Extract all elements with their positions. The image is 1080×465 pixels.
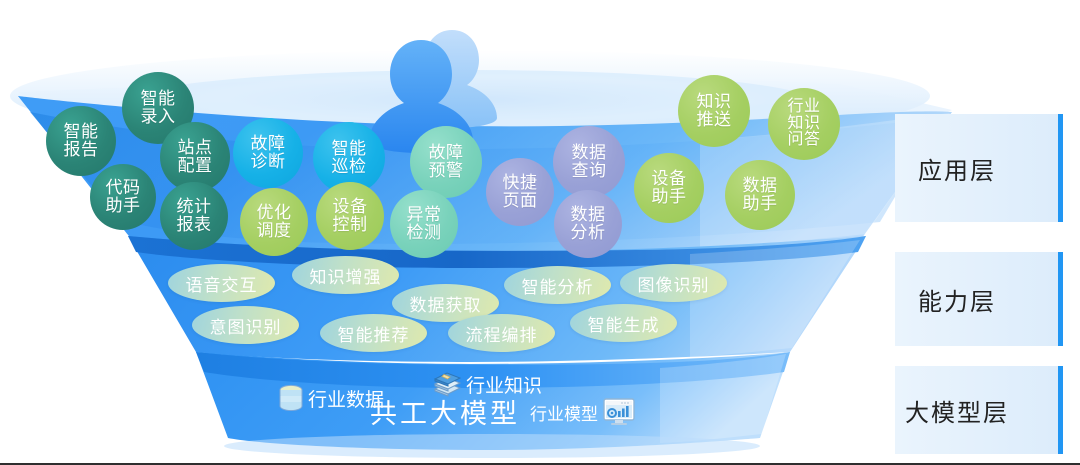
capability-pill-label: 智能分析 xyxy=(522,273,594,298)
capability-pill[interactable]: 知识增强 xyxy=(292,256,399,294)
capability-pill-label: 智能推荐 xyxy=(338,321,410,346)
app-bubble-line: 检测 xyxy=(407,224,442,242)
layer-accent-bar xyxy=(1058,114,1063,222)
app-bubble-line: 站点 xyxy=(178,139,213,157)
app-bubble-line: 知识 xyxy=(697,93,732,111)
app-bubble-line: 统计 xyxy=(177,198,212,216)
app-bubble-line: 智能 xyxy=(64,123,99,141)
capability-pill[interactable]: 图像识别 xyxy=(620,264,727,302)
app-bubble-label: 站点配置 xyxy=(178,139,213,175)
app-bubble-line: 问答 xyxy=(787,132,820,149)
layer-panel-model[interactable]: 大模型层 xyxy=(895,366,1063,454)
app-bubble-line: 报告 xyxy=(64,141,99,159)
app-bubble-line: 行业 xyxy=(787,99,820,116)
layer-label-model: 大模型层 xyxy=(905,393,1009,428)
capability-pill-label: 数据获取 xyxy=(410,291,482,316)
capability-pill[interactable]: 意图识别 xyxy=(192,306,299,344)
app-bubble-line: 报表 xyxy=(177,216,212,234)
app-bubble[interactable]: 异常检测 xyxy=(390,190,458,258)
app-bubble-line: 配置 xyxy=(178,157,213,175)
app-bubble[interactable]: 统计报表 xyxy=(160,182,228,250)
layer-panel-application[interactable]: 应用层 xyxy=(895,114,1063,222)
app-bubble[interactable]: 行业知识问答 xyxy=(768,88,840,160)
app-bubble-line: 优化 xyxy=(257,204,292,222)
app-bubble-line: 控制 xyxy=(333,216,368,234)
capability-pill-label: 语音交互 xyxy=(186,271,258,296)
monitor-icon xyxy=(602,397,636,427)
app-bubble-line: 查询 xyxy=(572,162,607,180)
app-bubble-line: 数据 xyxy=(572,144,607,162)
diagram-stage: 智能报告智能录入站点配置代码助手统计报表故障诊断智能巡检优化调度设备控制故障预警… xyxy=(0,0,1080,465)
layer-accent-bar xyxy=(1058,366,1063,454)
app-bubble-line: 故障 xyxy=(251,135,286,153)
app-bubble-line: 推送 xyxy=(697,111,732,129)
app-bubble-line: 知识 xyxy=(787,116,820,133)
app-bubble-label: 代码助手 xyxy=(106,179,141,215)
model-layer-title: 共工大模型 xyxy=(370,392,520,431)
app-bubble[interactable]: 故障预警 xyxy=(410,126,482,198)
app-bubble-label: 知识推送 xyxy=(697,93,732,129)
app-bubble[interactable]: 数据查询 xyxy=(553,126,625,198)
capability-pill[interactable]: 语音交互 xyxy=(168,264,275,302)
app-bubble-line: 快捷 xyxy=(503,174,538,192)
app-bubble-line: 异常 xyxy=(407,206,442,224)
layer-panel-capability[interactable]: 能力层 xyxy=(895,252,1063,346)
app-bubble-label: 故障诊断 xyxy=(251,135,286,171)
capability-pill[interactable]: 智能分析 xyxy=(504,266,611,304)
layer-label-application: 应用层 xyxy=(918,151,996,186)
model-layer-item-label: 行业模型 xyxy=(530,400,598,425)
app-bubble-line: 录入 xyxy=(141,108,176,126)
app-bubble[interactable]: 数据分析 xyxy=(554,190,622,258)
app-bubble[interactable]: 智能报告 xyxy=(46,106,116,176)
app-bubble-label: 统计报表 xyxy=(177,198,212,234)
app-bubble-label: 快捷页面 xyxy=(503,174,538,210)
app-bubble[interactable]: 故障诊断 xyxy=(233,118,303,188)
app-bubble-line: 代码 xyxy=(106,179,141,197)
app-bubble-label: 智能巡检 xyxy=(332,140,367,176)
layer-label-capability: 能力层 xyxy=(918,282,996,317)
app-bubble-line: 助手 xyxy=(652,188,687,206)
capability-pill-label: 流程编排 xyxy=(466,321,538,346)
app-bubble-label: 智能报告 xyxy=(64,123,99,159)
capability-pill-label: 知识增强 xyxy=(310,263,382,288)
capability-pill-label: 智能生成 xyxy=(588,311,660,336)
app-bubble-label: 设备控制 xyxy=(333,198,368,234)
capability-pill[interactable]: 流程编排 xyxy=(448,314,555,352)
app-bubble[interactable]: 优化调度 xyxy=(240,188,308,256)
layer-accent-bar xyxy=(1058,252,1063,346)
app-bubble-label: 数据分析 xyxy=(571,206,606,242)
app-bubble-line: 诊断 xyxy=(251,153,286,171)
app-bubble-label: 数据助手 xyxy=(743,177,778,213)
model-layer-item[interactable]: 行业模型 xyxy=(530,397,636,427)
app-bubble-line: 助手 xyxy=(743,195,778,213)
app-bubble-label: 智能录入 xyxy=(141,90,176,126)
app-bubble-label: 故障预警 xyxy=(429,144,464,180)
app-bubble-line: 故障 xyxy=(429,144,464,162)
app-bubble[interactable]: 设备控制 xyxy=(316,182,384,250)
capability-pill[interactable]: 智能推荐 xyxy=(320,314,427,352)
app-bubble-line: 设备 xyxy=(652,170,687,188)
app-bubble-line: 设备 xyxy=(333,198,368,216)
app-bubble-line: 预警 xyxy=(429,162,464,180)
app-bubble-label: 异常检测 xyxy=(407,206,442,242)
app-bubble-line: 调度 xyxy=(257,222,292,240)
app-bubble-line: 数据 xyxy=(571,206,606,224)
top-divider xyxy=(0,0,1080,1)
app-bubble-line: 数据 xyxy=(743,177,778,195)
app-bubble-line: 巡检 xyxy=(332,158,367,176)
capability-pill-label: 图像识别 xyxy=(638,271,710,296)
app-bubble[interactable]: 代码助手 xyxy=(90,164,156,230)
app-bubble-line: 分析 xyxy=(571,224,606,242)
app-bubble[interactable]: 知识推送 xyxy=(678,75,750,147)
capability-pill[interactable]: 智能生成 xyxy=(570,304,677,342)
app-bubble-label: 设备助手 xyxy=(652,170,687,206)
app-bubble-line: 智能 xyxy=(141,90,176,108)
app-bubble-line: 助手 xyxy=(106,197,141,215)
app-bubble[interactable]: 数据助手 xyxy=(725,160,795,230)
app-bubble[interactable]: 快捷页面 xyxy=(486,158,554,226)
app-bubble-label: 优化调度 xyxy=(257,204,292,240)
model-layer-item[interactable]: 行业数据 xyxy=(278,384,384,412)
capability-pill-label: 意图识别 xyxy=(210,313,282,338)
app-bubble-label: 行业知识问答 xyxy=(787,99,820,150)
app-bubble-line: 智能 xyxy=(332,140,367,158)
app-bubble-label: 数据查询 xyxy=(572,144,607,180)
app-bubble[interactable]: 设备助手 xyxy=(634,153,704,223)
app-bubble-line: 页面 xyxy=(503,192,538,210)
database-icon xyxy=(278,384,304,412)
